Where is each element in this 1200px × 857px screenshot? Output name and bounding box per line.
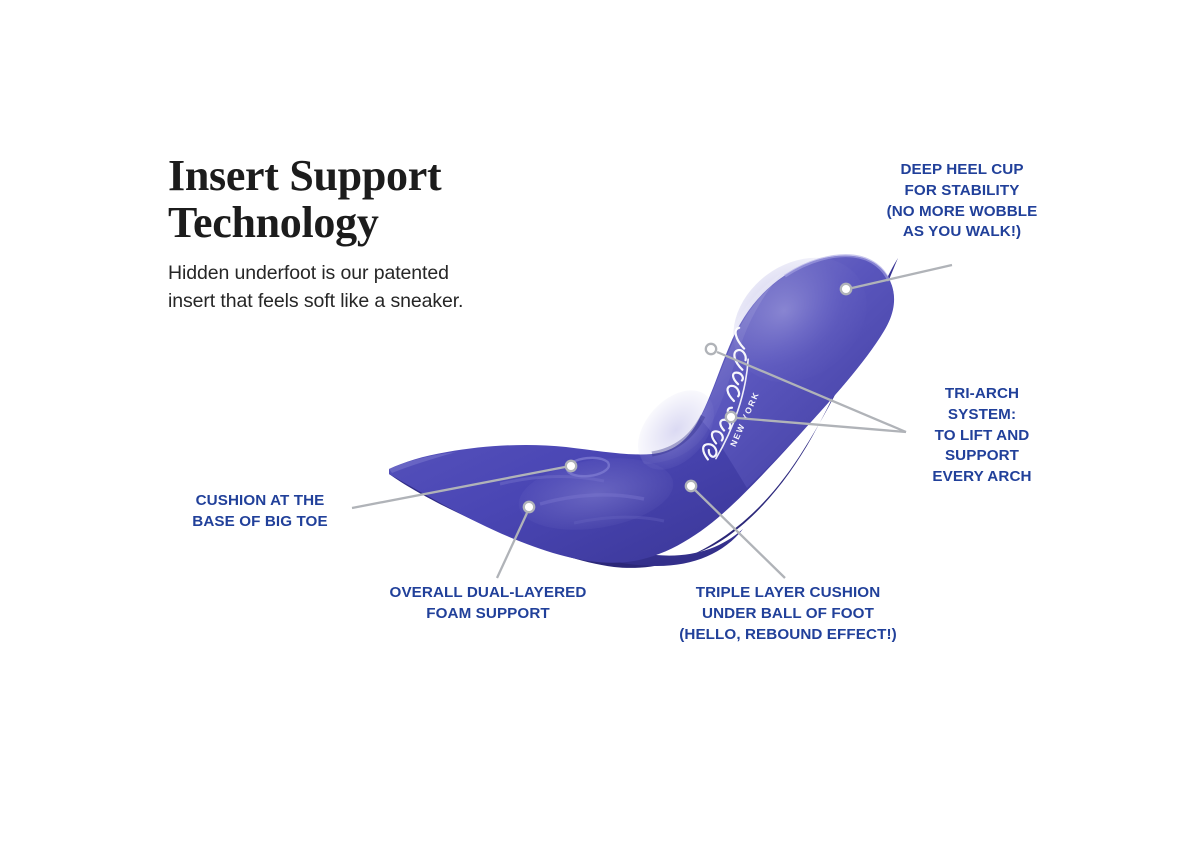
leader-ring-tri-arch-lower [726,412,736,422]
leader-ring-foam-support [524,502,534,512]
leader-line-triple-layer-cushion [695,490,785,578]
leader-ring-deep-heel-cup [841,284,851,294]
insert-support-technology-infographic: NEW YORK Insert Support Te [0,0,1200,857]
callout-label-triple-layer-cushion: TRIPLE LAYER CUSHION UNDER BALL OF FOOT … [660,583,916,645]
callout-label-deep-heel-cup: DEEP HEEL CUP FOR STABILITY (NO MORE WOB… [872,160,1052,243]
leader-ring-cushion-big-toe [566,461,576,471]
page-title: Insert Support Technology [168,153,528,246]
callout-label-tri-arch-system: TRI-ARCH SYSTEM: TO LIFT AND SUPPORT EVE… [912,384,1052,488]
callout-label-cushion-big-toe: CUSHION AT THE BASE OF BIG TOE [176,491,344,533]
page-subtitle: Hidden underfoot is our patented insert … [168,260,528,315]
leader-ring-tri-arch-upper [706,344,716,354]
leader-ring-triple-layer-cushion [686,481,696,491]
callout-label-overall-foam-support: OVERALL DUAL-LAYERED FOAM SUPPORT [368,583,608,625]
heading-block: Insert Support Technology Hidden underfo… [168,153,528,316]
